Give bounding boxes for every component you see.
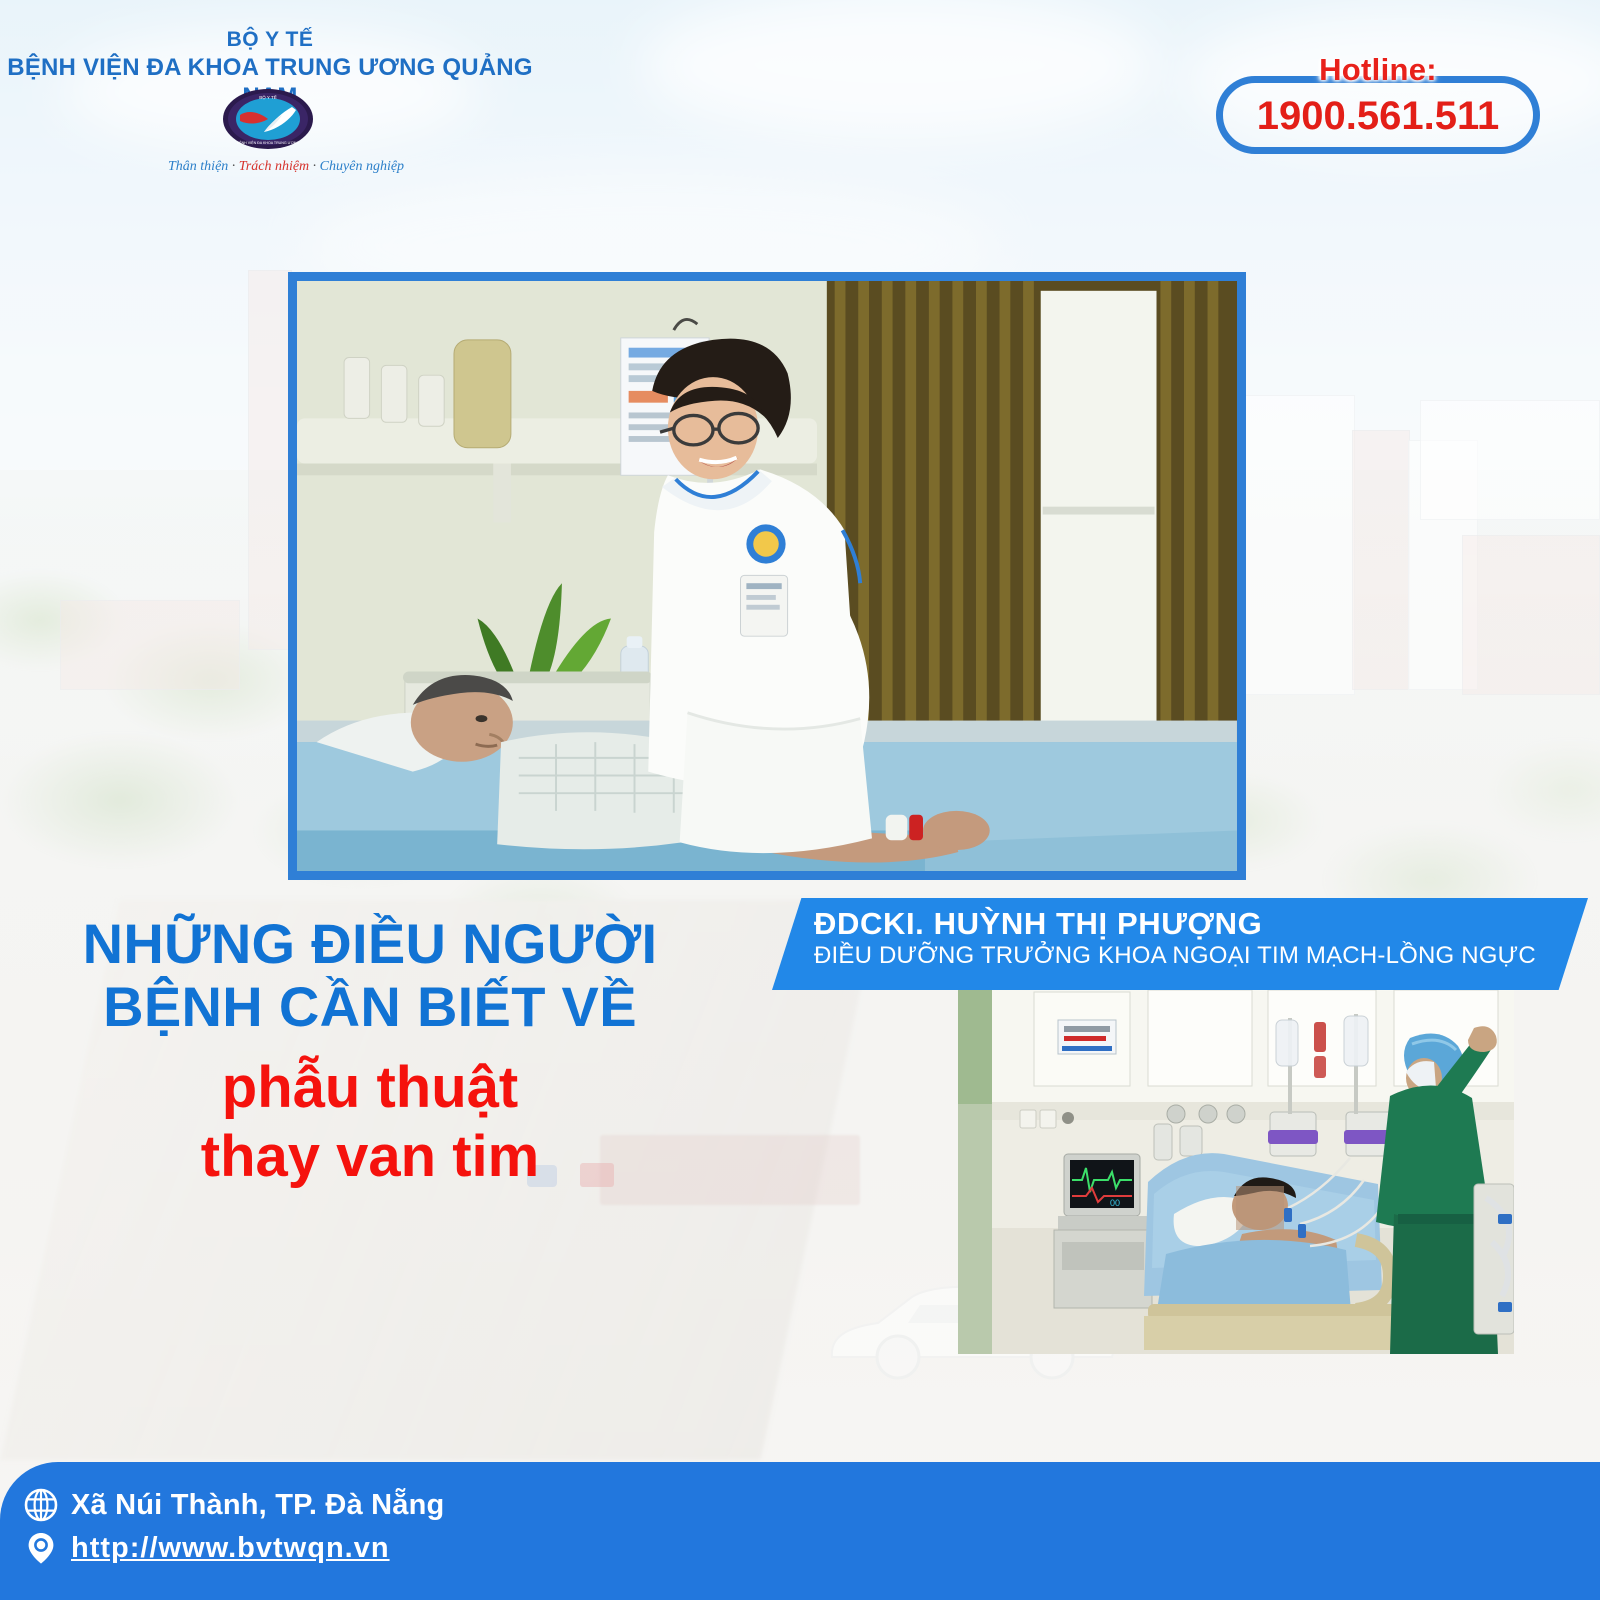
- footer-address-row: Xã Núi Thành, TP. Đà Nẵng: [24, 1488, 1600, 1522]
- footer-address-text: Xã Núi Thành, TP. Đà Nẵng: [71, 1489, 444, 1522]
- title-line-3: phẫu thuật: [0, 1053, 740, 1123]
- tagline-part-1: Thân thiện: [168, 159, 228, 174]
- main-title-block: NHỮNG ĐIỀU NGƯỜI BỆNH CẦN BIẾT VỀ phẫu t…: [0, 912, 740, 1192]
- photo-bottom-graphic: 00: [958, 984, 1514, 1354]
- photo-top-graphic: [297, 281, 1237, 878]
- svg-text:00: 00: [1110, 1198, 1120, 1208]
- footer-website-row[interactable]: http://www.bvtwqn.vn: [24, 1531, 1600, 1565]
- presenter-banner: ĐDCKI. HUỲNH THỊ PHƯỢNG ĐIỀU DƯỠNG TRƯỞN…: [772, 898, 1588, 990]
- svg-text:BỘ Y TẾ: BỘ Y TẾ: [259, 94, 277, 100]
- icu-patient-monitoring-photo: 00: [958, 984, 1514, 1354]
- hospital-seal-logo-icon: BỘ Y TẾ BỆNH VIỆN ĐA KHOA TRUNG ƯƠNG: [222, 88, 314, 150]
- svg-text:BỆNH VIỆN ĐA KHOA TRUNG ƯƠNG: BỆNH VIỆN ĐA KHOA TRUNG ƯƠNG: [237, 140, 300, 145]
- presenter-name: ĐDCKI. HUỲNH THỊ PHƯỢNG: [814, 907, 1588, 940]
- ministry-name: BỘ Y TẾ: [0, 28, 540, 52]
- tagline-part-2: Trách nhiệm: [239, 159, 309, 174]
- globe-icon: [24, 1488, 58, 1522]
- title-line-1: NHỮNG ĐIỀU NGƯỜI: [0, 912, 740, 975]
- hotline-label: Hotline:: [1216, 52, 1540, 88]
- tagline-part-3: Chuyên nghiệp: [320, 159, 404, 174]
- title-line-4: thay van tim: [0, 1122, 740, 1192]
- hospital-tagline: Thân thiện · Trách nhiệm · Chuyên nghiệp: [168, 159, 308, 175]
- footer-website-link[interactable]: http://www.bvtwqn.vn: [71, 1532, 390, 1565]
- title-line-2: BỆNH CẦN BIẾT VỀ: [0, 975, 740, 1038]
- location-pin-icon: [24, 1531, 58, 1565]
- tagline-separator: ·: [313, 159, 317, 174]
- presenter-role: ĐIỀU DƯỠNG TRƯỞNG KHOA NGOẠI TIM MẠCH-LỒ…: [814, 943, 1588, 969]
- page-footer: Xã Núi Thành, TP. Đà Nẵng http://www.bvt…: [0, 1462, 1600, 1600]
- hotline-number[interactable]: 1900.561.511: [1216, 94, 1540, 139]
- nurse-attending-patient-photo: [288, 272, 1246, 880]
- logo-block: BỘ Y TẾ BỆNH VIỆN ĐA KHOA TRUNG ƯƠNG Thâ…: [198, 88, 338, 175]
- page-header: BỘ Y TẾ BỆNH VIỆN ĐA KHOA TRUNG ƯƠNG QUẢ…: [0, 0, 1600, 210]
- tagline-separator: ·: [232, 159, 236, 174]
- title-highlight: phẫu thuật thay van tim: [0, 1053, 740, 1192]
